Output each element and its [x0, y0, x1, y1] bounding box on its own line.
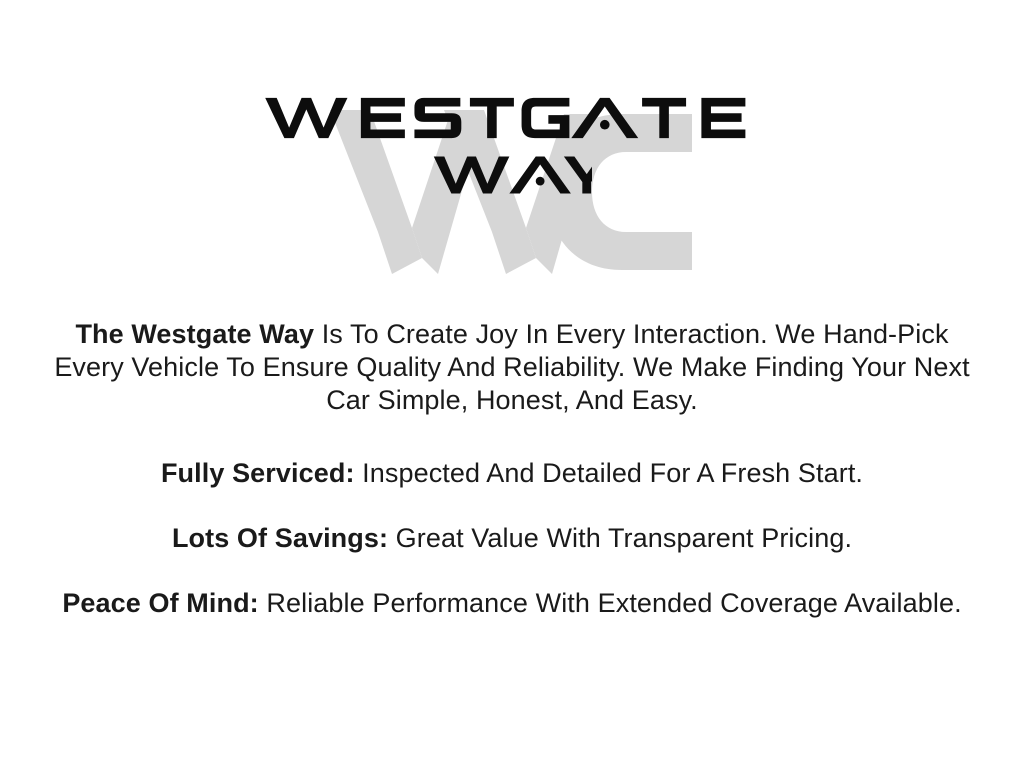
intro-paragraph: The Westgate Way Is To Create Joy In Eve…	[37, 318, 987, 417]
point-label: Lots Of Savings:	[172, 523, 388, 553]
point-text: Inspected And Detailed For A Fresh Start…	[355, 458, 863, 488]
point-fully-serviced: Fully Serviced: Inspected And Detailed F…	[22, 457, 1002, 490]
logo-block	[0, 0, 1024, 296]
point-lots-of-savings: Lots Of Savings: Great Value With Transp…	[22, 522, 1002, 555]
point-text: Reliable Performance With Extended Cover…	[259, 588, 962, 618]
spacer	[0, 417, 1024, 457]
logotype	[0, 96, 1024, 202]
point-text: Great Value With Transparent Pricing.	[388, 523, 852, 553]
point-label: Peace Of Mind:	[62, 588, 258, 618]
intro-lead: The Westgate Way	[75, 319, 314, 349]
point-label: Fully Serviced:	[161, 458, 355, 488]
body-copy: The Westgate Way Is To Create Joy In Eve…	[0, 318, 1024, 620]
spacer	[0, 555, 1024, 587]
logo-line-westgate	[0, 96, 1024, 142]
point-peace-of-mind: Peace Of Mind: Reliable Performance With…	[22, 587, 1002, 620]
logo-line-way	[0, 154, 1024, 202]
spacer	[0, 490, 1024, 522]
promo-page: The Westgate Way Is To Create Joy In Eve…	[0, 0, 1024, 768]
